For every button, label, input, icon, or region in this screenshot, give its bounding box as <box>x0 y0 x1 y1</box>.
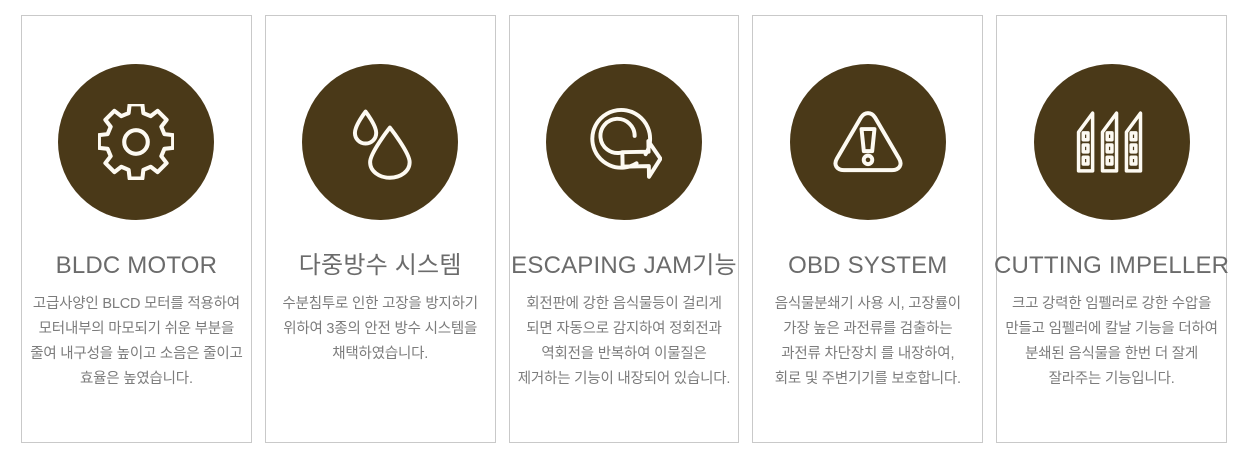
feature-title: 다중방수 시스템 <box>299 253 462 279</box>
description-line: 역회전을 반복하여 이물질은 <box>518 342 730 367</box>
description-line: 분쇄된 음식물을 한번 더 잘게 <box>1005 342 1217 367</box>
feature-card-waterproof-system[interactable]: 다중방수 시스템 수분침투로 인한 고장을 방지하기 위하여 3종의 안전 방수… <box>265 15 496 443</box>
description-line: 위하여 3종의 안전 방수 시스템을 <box>282 317 477 342</box>
feature-card-obd-system[interactable]: OBD SYSTEM 음식물분쇄기 사용 시, 고장률이 가장 높은 과전류를 … <box>752 15 983 443</box>
description-line: 만들고 임펠러에 칼날 기능을 더하여 <box>1005 317 1217 342</box>
icon-circle <box>1034 64 1190 220</box>
description-line: 가장 높은 과전류를 검출하는 <box>775 317 961 342</box>
description-line: 되면 자동으로 감지하여 정회전과 <box>518 317 730 342</box>
description-line: 수분침투로 인한 고장을 방지하기 <box>282 292 477 317</box>
description-line: 효율은 높였습니다. <box>30 367 242 392</box>
description-line: 크고 강력한 임펠러로 강한 수압을 <box>1005 292 1217 317</box>
icon-circle <box>302 64 458 220</box>
description-line: 제거하는 기능이 내장되어 있습니다. <box>518 367 730 392</box>
description-line: 회전판에 강한 음식물등이 걸리게 <box>518 292 730 317</box>
gear-icon <box>98 104 174 180</box>
rotation-arrow-icon <box>586 104 662 180</box>
icon-circle <box>546 64 702 220</box>
description-line: 채택하였습니다. <box>282 342 477 367</box>
feature-description: 크고 강력한 임펠러로 강한 수압을 만들고 임펠러에 칼날 기능을 더하여 분… <box>1005 292 1217 392</box>
feature-card-grid: BLDC MOTOR 고급사양인 BLCD 모터를 적용하여 모터내부의 마모되… <box>0 0 1247 455</box>
feature-description: 수분침투로 인한 고장을 방지하기 위하여 3종의 안전 방수 시스템을 채택하… <box>282 292 477 367</box>
feature-description: 회전판에 강한 음식물등이 걸리게 되면 자동으로 감지하여 정회전과 역회전을… <box>518 292 730 392</box>
feature-card-escaping-jam[interactable]: ESCAPING JAM기능 회전판에 강한 음식물등이 걸리게 되면 자동으로… <box>509 15 740 443</box>
description-line: 잘라주는 기능입니다. <box>1005 367 1217 392</box>
description-line: 줄여 내구성을 높이고 소음은 줄이고 <box>30 342 242 367</box>
feature-description: 음식물분쇄기 사용 시, 고장률이 가장 높은 과전류를 검출하는 과전류 차단… <box>775 292 961 392</box>
feature-title: OBD SYSTEM <box>788 253 947 279</box>
feature-card-cutting-impeller[interactable]: CUTTING IMPELLER 크고 강력한 임펠러로 강한 수압을 만들고 … <box>996 15 1227 443</box>
icon-circle <box>790 64 946 220</box>
water-drops-icon <box>342 104 418 180</box>
feature-description: 고급사양인 BLCD 모터를 적용하여 모터내부의 마모되기 쉬운 부분을 줄여… <box>30 292 242 392</box>
feature-title: BLDC MOTOR <box>56 253 218 279</box>
description-line: 회로 및 주변기기를 보호합니다. <box>775 367 961 392</box>
feature-title: CUTTING IMPELLER <box>994 253 1229 279</box>
impeller-blades-icon <box>1074 104 1150 180</box>
description-line: 고급사양인 BLCD 모터를 적용하여 <box>30 292 242 317</box>
description-line: 음식물분쇄기 사용 시, 고장률이 <box>775 292 961 317</box>
icon-circle <box>58 64 214 220</box>
feature-card-bldc-motor[interactable]: BLDC MOTOR 고급사양인 BLCD 모터를 적용하여 모터내부의 마모되… <box>21 15 252 443</box>
feature-title: ESCAPING JAM기능 <box>511 253 737 279</box>
description-line: 모터내부의 마모되기 쉬운 부분을 <box>30 317 242 342</box>
description-line: 과전류 차단장치 를 내장하여, <box>775 342 961 367</box>
warning-triangle-icon <box>830 104 906 180</box>
